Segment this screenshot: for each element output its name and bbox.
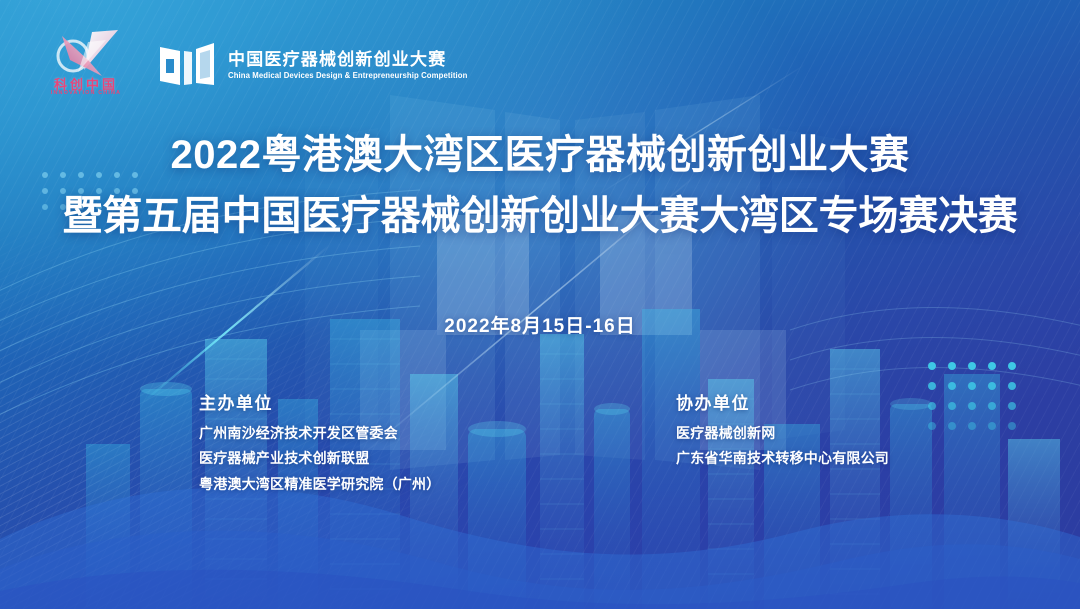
host-item: 医疗器械产业技术创新联盟 bbox=[199, 448, 440, 468]
competition-en-label: China Medical Devices Design & Entrepren… bbox=[228, 72, 467, 81]
event-date: 2022年8月15日-16日 bbox=[0, 311, 1080, 338]
co-host-item: 医疗器械创新网 bbox=[676, 423, 889, 443]
co-host-item: 广东省华南技术转移中心有限公司 bbox=[676, 448, 889, 468]
competition-mark-icon bbox=[158, 41, 216, 91]
logo-innovation-china: 科创中国 INNOVATION CHINA bbox=[40, 30, 132, 102]
title-line-1: 2022粤港澳大湾区医疗器械创新创业大赛 bbox=[0, 132, 1080, 179]
host-item: 广州南沙经济技术开发区管委会 bbox=[199, 423, 440, 443]
poster-title: 2022粤港澳大湾区医疗器械创新创业大赛 暨第五届中国医疗器械创新创业大赛大湾区… bbox=[0, 132, 1080, 240]
competition-cn-label: 中国医疗器械创新创业大赛 bbox=[228, 51, 475, 70]
wave-icon bbox=[0, 419, 1080, 609]
co-host-organizers: 协办单位 医疗器械创新网 广东省华南技术转移中心有限公司 bbox=[676, 389, 889, 474]
poster-canvas: 科创中国 INNOVATION CHINA 中国医疗器械创新创业大赛 China… bbox=[0, 0, 1080, 609]
host-organizers: 主办单位 广州南沙经济技术开发区管委会 医疗器械产业技术创新联盟 粤港澳大湾区精… bbox=[199, 389, 440, 499]
co-host-heading: 协办单位 bbox=[676, 389, 889, 414]
innovation-china-en-label: INNOVATION CHINA bbox=[40, 90, 132, 96]
innovation-china-bird-logo-icon bbox=[48, 30, 124, 78]
host-heading: 主办单位 bbox=[199, 389, 440, 414]
logo-competition: 中国医疗器械创新创业大赛 China Medical Devices Desig… bbox=[158, 41, 475, 91]
header-logos: 科创中国 INNOVATION CHINA 中国医疗器械创新创业大赛 China… bbox=[40, 30, 475, 102]
glow-bottom bbox=[0, 309, 1080, 609]
title-line-2: 暨第五届中国医疗器械创新创业大赛大湾区专场赛决赛 bbox=[0, 193, 1080, 240]
host-item: 粤港澳大湾区精准医学研究院（广州） bbox=[199, 474, 440, 494]
